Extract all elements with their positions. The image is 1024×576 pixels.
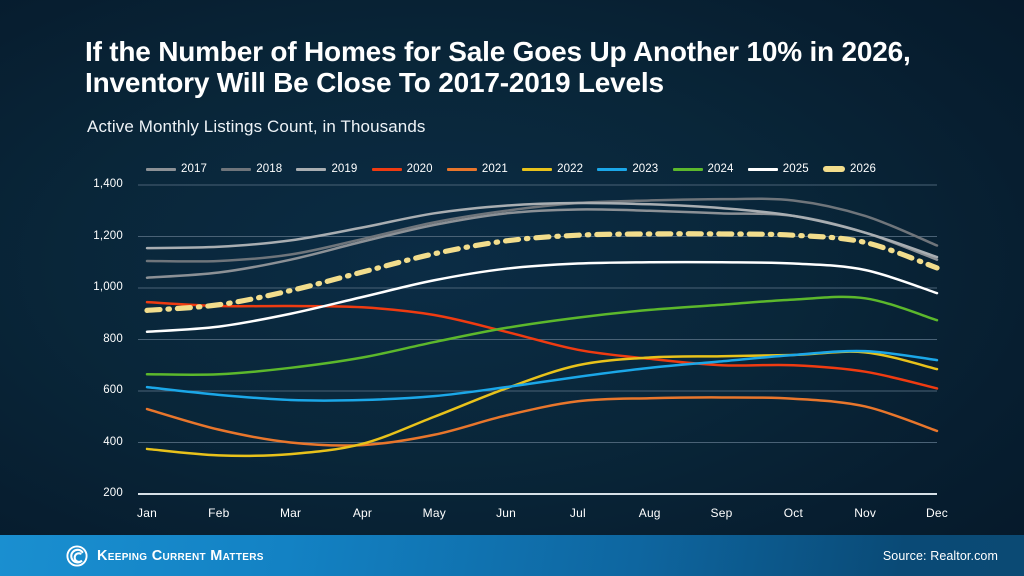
chart-plot-area: 1,4001,2001,000800600400200JanFebMarAprM… xyxy=(75,178,945,508)
chart-subtitle: Active Monthly Listings Count, in Thousa… xyxy=(87,117,426,137)
y-axis-label-1200: 1,200 xyxy=(75,231,123,242)
legend-label-2018: 2018 xyxy=(256,163,282,175)
y-axis-label-200: 200 xyxy=(75,488,123,499)
legend-label-2023: 2023 xyxy=(632,163,658,175)
legend-item-2021[interactable]: 2021 xyxy=(447,163,508,175)
legend-item-2018[interactable]: 2018 xyxy=(221,163,282,175)
legend-item-2017[interactable]: 2017 xyxy=(146,163,207,175)
brand-block: Keeping Current Matters xyxy=(66,545,264,567)
legend-item-2022[interactable]: 2022 xyxy=(522,163,583,175)
x-axis-label-Aug: Aug xyxy=(620,506,680,520)
series-line-2024 xyxy=(147,297,937,375)
page-title: If the Number of Homes for Sale Goes Up … xyxy=(85,36,955,98)
x-axis-label-May: May xyxy=(404,506,464,520)
footer-bar: Keeping Current Matters Source: Realtor.… xyxy=(0,535,1024,576)
y-axis-label-600: 600 xyxy=(75,385,123,396)
legend-label-2024: 2024 xyxy=(708,163,734,175)
x-axis-label-Sep: Sep xyxy=(692,506,752,520)
x-axis-label-Dec: Dec xyxy=(907,506,967,520)
x-axis-label-Jan: Jan xyxy=(117,506,177,520)
legend-label-2025: 2025 xyxy=(783,163,809,175)
legend-item-2025[interactable]: 2025 xyxy=(748,163,809,175)
legend-swatch-2023 xyxy=(597,168,627,171)
y-axis-label-400: 400 xyxy=(75,437,123,448)
legend-swatch-2019 xyxy=(296,168,326,171)
chart-svg xyxy=(75,178,945,508)
x-axis-label-Jul: Jul xyxy=(548,506,608,520)
x-axis-label-Apr: Apr xyxy=(332,506,392,520)
y-axis-label-800: 800 xyxy=(75,334,123,345)
legend-label-2020: 2020 xyxy=(407,163,433,175)
series-line-2021 xyxy=(147,397,937,445)
legend-swatch-2025 xyxy=(748,168,778,171)
y-axis-label-1000: 1,000 xyxy=(75,282,123,293)
legend-label-2019: 2019 xyxy=(331,163,357,175)
legend-item-2023[interactable]: 2023 xyxy=(597,163,658,175)
brand-name: Keeping Current Matters xyxy=(97,548,264,564)
legend-swatch-2021 xyxy=(447,168,477,171)
legend-item-2019[interactable]: 2019 xyxy=(296,163,357,175)
spiral-circle-logo-icon xyxy=(66,545,88,567)
legend-swatch-2024 xyxy=(673,168,703,171)
y-axis-label-1400: 1,400 xyxy=(75,179,123,190)
legend-label-2017: 2017 xyxy=(181,163,207,175)
legend-item-2026[interactable]: 2026 xyxy=(823,163,876,175)
legend-label-2021: 2021 xyxy=(482,163,508,175)
x-axis-label-Oct: Oct xyxy=(763,506,823,520)
x-axis-label-Feb: Feb xyxy=(189,506,249,520)
chart-slide: If the Number of Homes for Sale Goes Up … xyxy=(0,0,1024,576)
legend-swatch-2017 xyxy=(146,168,176,171)
legend-label-2026: 2026 xyxy=(850,163,876,175)
legend-label-2022: 2022 xyxy=(557,163,583,175)
chart-legend: 2017201820192020202120222023202420252026 xyxy=(146,160,876,178)
legend-item-2024[interactable]: 2024 xyxy=(673,163,734,175)
x-axis-label-Nov: Nov xyxy=(835,506,895,520)
legend-swatch-2018 xyxy=(221,168,251,171)
x-axis-label-Jun: Jun xyxy=(476,506,536,520)
legend-swatch-2026 xyxy=(823,166,845,172)
series-line-2018 xyxy=(147,199,937,262)
source-attribution: Source: Realtor.com xyxy=(883,549,998,563)
legend-swatch-2022 xyxy=(522,168,552,171)
legend-item-2020[interactable]: 2020 xyxy=(372,163,433,175)
x-axis-label-Mar: Mar xyxy=(261,506,321,520)
legend-swatch-2020 xyxy=(372,168,402,171)
